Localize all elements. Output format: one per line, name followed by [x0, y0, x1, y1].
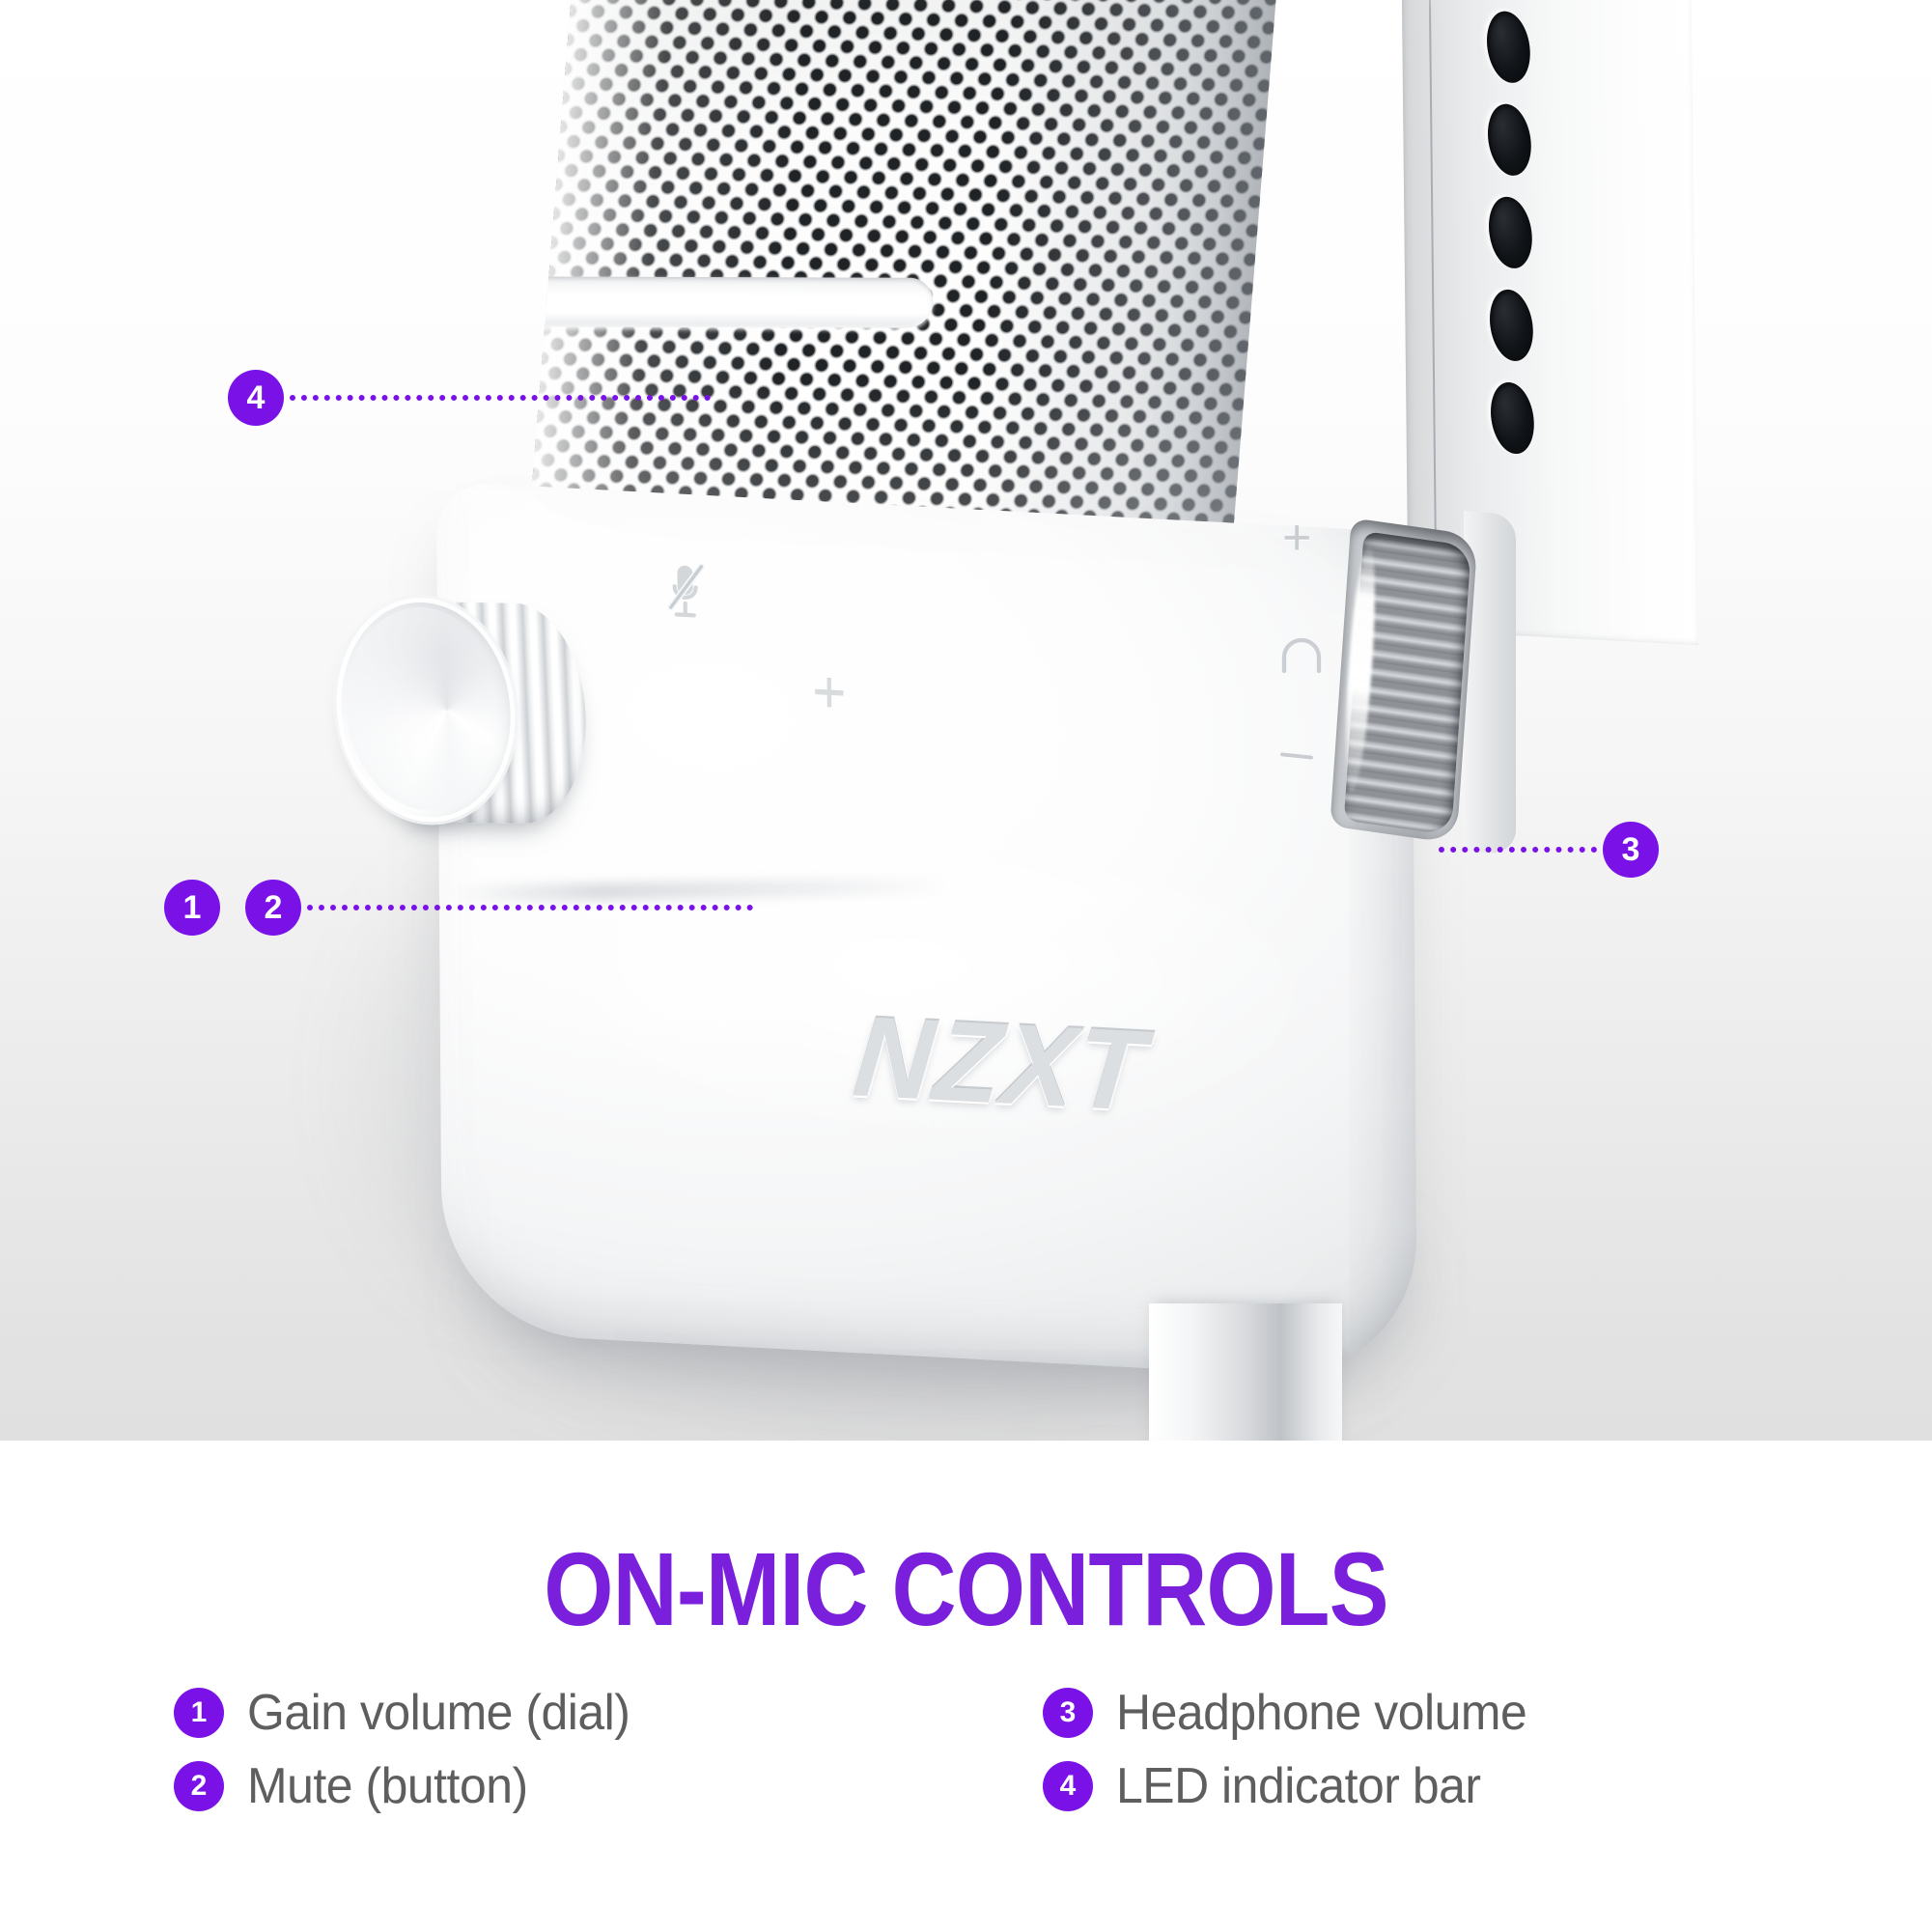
callout-badge-1[interactable]: 1	[164, 880, 220, 936]
callout-1-2: 1 2	[164, 880, 753, 936]
headphone-minus-marker	[1280, 752, 1313, 760]
nzxt-logo: NZXT	[849, 991, 1152, 1137]
legend-item-2: 2 Mute (button)	[174, 1757, 792, 1815]
callout-leader-line	[1439, 847, 1597, 853]
mute-icon	[657, 558, 713, 625]
vent-hole	[1485, 195, 1536, 269]
mic-stand-post	[1149, 1303, 1342, 1441]
callout-3: 3	[1439, 822, 1659, 878]
product-photo-panel: + NZXT + 4 1 2	[0, 0, 1932, 1441]
callout-badge-4[interactable]: 4	[228, 370, 284, 426]
gain-plus-marker: +	[812, 663, 846, 723]
headphone-volume-wheel[interactable]: +	[1274, 526, 1526, 845]
caption-panel: ON-MIC CONTROLS 1 Gain volume (dial) 3 H…	[0, 1441, 1932, 1932]
vent-hole	[1484, 102, 1535, 177]
legend-badge-3: 3	[1043, 1688, 1093, 1738]
legend-item-3: 3 Headphone volume	[1043, 1684, 1777, 1742]
legend-label-3: Headphone volume	[1116, 1684, 1526, 1742]
legend-item-1: 1 Gain volume (dial)	[174, 1684, 792, 1742]
legend-label-1: Gain volume (dial)	[247, 1684, 630, 1742]
led-indicator-bar	[522, 276, 935, 328]
headphone-plus-marker: +	[1282, 509, 1311, 567]
vent-hole	[1487, 380, 1538, 455]
legend-list: 1 Gain volume (dial) 3 Headphone volume …	[174, 1684, 1777, 1815]
legend-badge-1: 1	[174, 1688, 224, 1738]
callout-badge-2[interactable]: 2	[245, 880, 301, 936]
legend-label-2: Mute (button)	[247, 1757, 528, 1815]
gain-volume-dial[interactable]	[332, 596, 598, 827]
callout-4: 4	[228, 370, 711, 426]
headphone-icon	[1276, 634, 1327, 677]
page-title: ON-MIC CONTROLS	[135, 1537, 1797, 1641]
wheel-recess	[1330, 518, 1477, 844]
legend-badge-2: 2	[174, 1761, 224, 1811]
legend-item-4: 4 LED indicator bar	[1043, 1757, 1777, 1815]
callout-leader-line	[307, 905, 753, 910]
legend-badge-4: 4	[1043, 1761, 1093, 1811]
vent-hole	[1486, 288, 1537, 362]
vent-hole	[1483, 10, 1534, 84]
callout-badge-3[interactable]: 3	[1603, 822, 1659, 878]
legend-label-4: LED indicator bar	[1116, 1757, 1481, 1815]
callout-leader-line	[290, 395, 711, 401]
